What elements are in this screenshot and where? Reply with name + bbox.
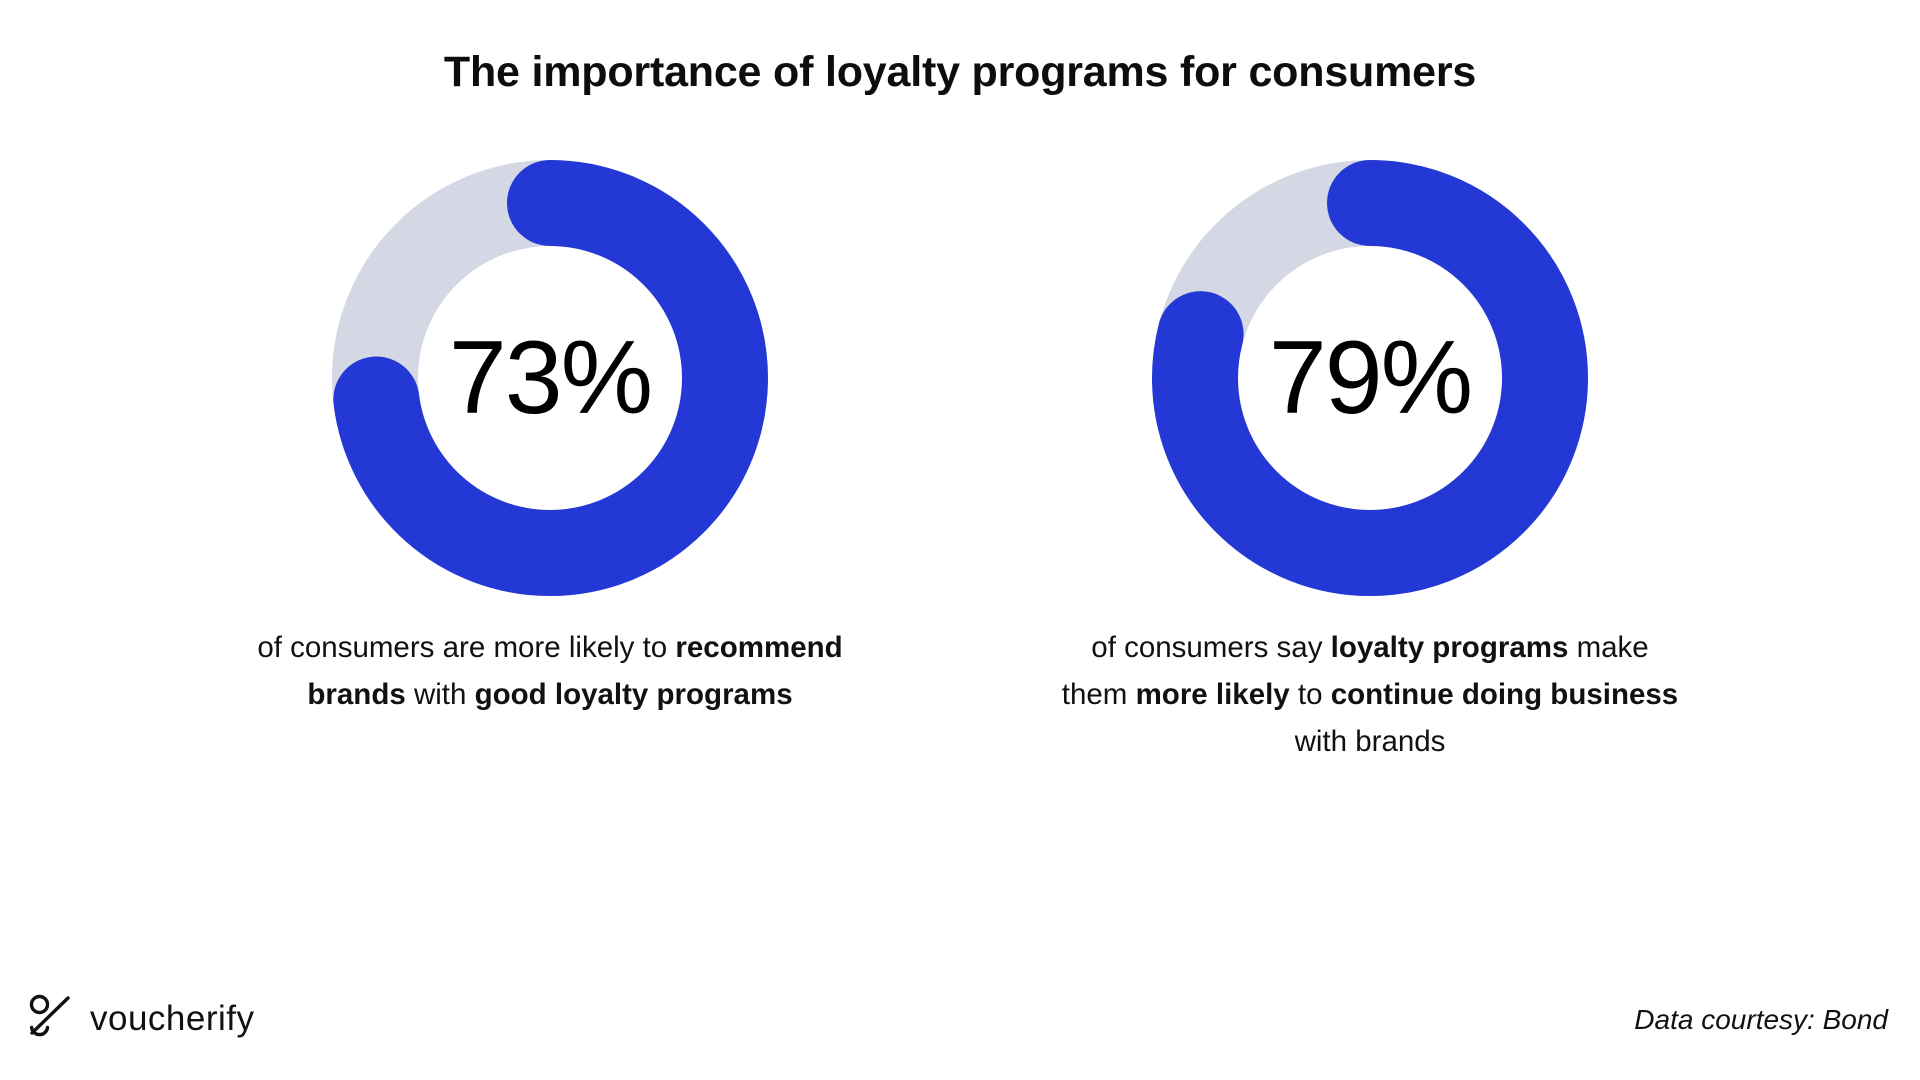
voucherify-logo[interactable]: voucherify: [28, 993, 255, 1044]
caption-run: more likely: [1136, 678, 1290, 711]
caption-run: with brands: [1295, 725, 1446, 758]
donut-chart-1-svg: [332, 160, 768, 596]
donut-chart-1: 73%: [332, 160, 768, 596]
charts-row: 73% of consumers are more likely to reco…: [0, 160, 1920, 800]
percent-icon: [28, 993, 74, 1044]
footer: voucherify Data courtesy: Bond: [0, 960, 1920, 1080]
logo-wordmark: voucherify: [90, 999, 255, 1039]
caption-run: of consumers say: [1091, 631, 1330, 664]
chart-caption-2: of consumers say loyalty programs make t…: [1060, 624, 1680, 765]
donut-chart-2: 79%: [1152, 160, 1588, 596]
chart-caption-1: of consumers are more likely to recommen…: [240, 624, 860, 718]
donut-chart-2-svg: [1152, 160, 1588, 596]
page-title: The importance of loyalty programs for c…: [0, 48, 1920, 97]
caption-run: continue doing business: [1331, 678, 1678, 711]
caption-run: with: [406, 678, 475, 711]
caption-run: to: [1290, 678, 1331, 711]
caption-run: good loyalty programs: [475, 678, 793, 711]
caption-run: loyalty programs: [1331, 631, 1569, 664]
chart-block-continue-doing-business: 79% of consumers say loyalty programs ma…: [960, 160, 1780, 765]
data-credit: Data courtesy: Bond: [1634, 1004, 1888, 1036]
caption-run: of consumers are more likely to: [257, 631, 675, 664]
chart-block-recommend-brands: 73% of consumers are more likely to reco…: [140, 160, 960, 718]
